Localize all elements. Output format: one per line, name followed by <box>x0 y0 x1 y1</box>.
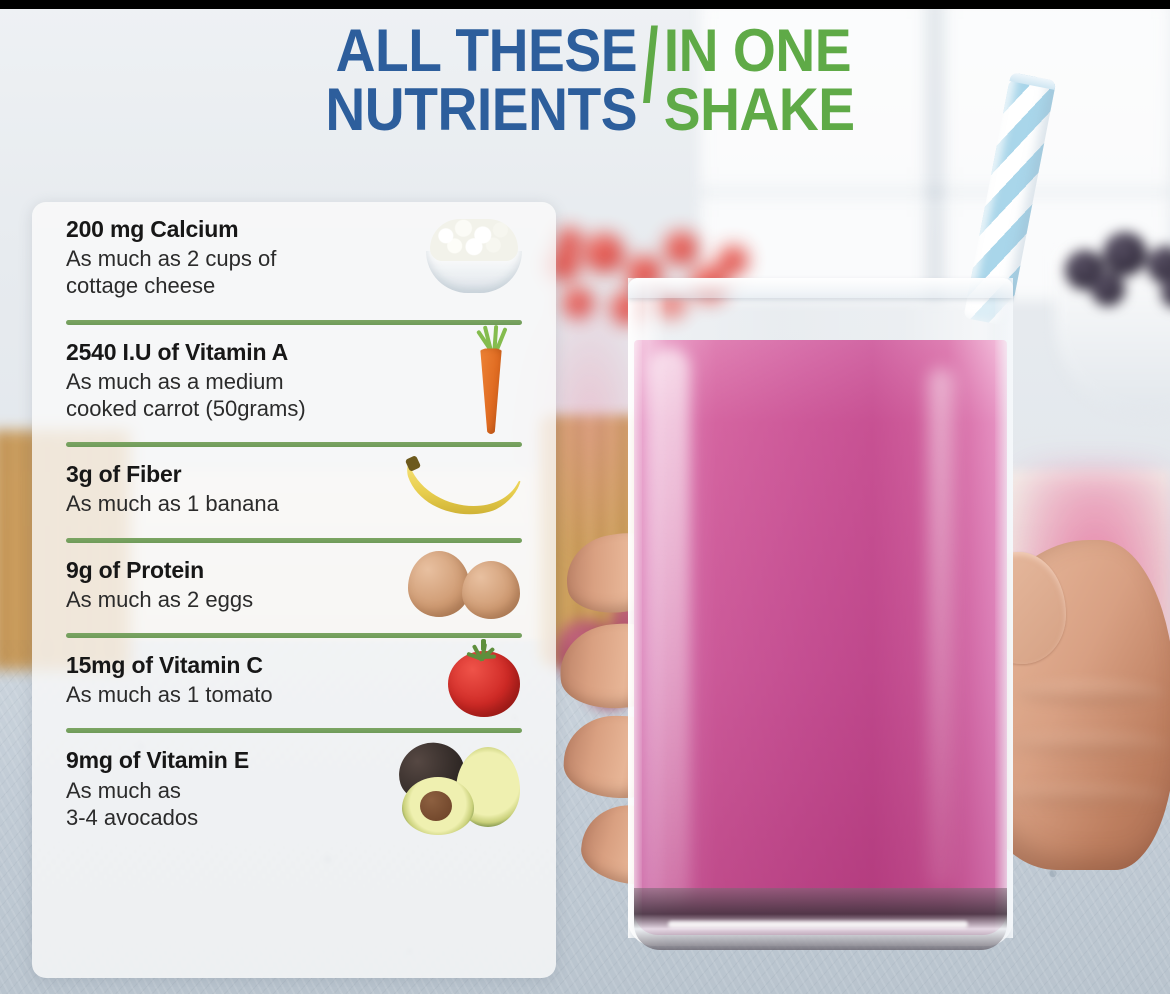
knuckle-crease-3 <box>990 784 1165 806</box>
egg-1 <box>408 551 470 617</box>
avocado-icon <box>394 739 522 835</box>
glass-right-edge <box>995 278 1013 938</box>
glass-base-highlight <box>668 921 968 928</box>
nutrient-amount: 200 mg Calcium <box>66 216 396 243</box>
headline-line-1: ALL THESE <box>326 22 638 81</box>
nutrient-equivalent: As much as 1 tomato <box>66 681 396 708</box>
nutrient-text: 15mg of Vitamin CAs much as 1 tomato <box>66 652 396 708</box>
knuckle-crease-2 <box>1005 732 1170 756</box>
nutrient-amount: 3g of Fiber <box>66 461 396 488</box>
nutrient-row: 2540 I.U of Vitamin AAs much as a medium… <box>32 325 556 433</box>
equivalent-line-1: As much as <box>66 778 181 803</box>
nutrient-equivalent: As much as 1 banana <box>66 490 396 517</box>
nutrient-equivalent: As much as 2 eggs <box>66 586 396 613</box>
avocado-pit <box>420 791 452 821</box>
blueberry-1 <box>1103 232 1147 276</box>
smoothie-highlight-left <box>648 348 690 908</box>
equivalent-line-1: As much as 1 banana <box>66 491 279 516</box>
glass-base <box>634 888 1007 950</box>
equivalent-line-1: As much as a medium <box>66 369 284 394</box>
headline-line-2: NUTRIENTS <box>326 81 638 140</box>
glass-left-edge <box>628 278 642 938</box>
tomato-body <box>448 651 520 717</box>
nutrient-text: 9g of ProteinAs much as 2 eggs <box>66 557 396 613</box>
egg-2 <box>462 561 520 619</box>
equivalent-line-1: As much as 2 eggs <box>66 587 253 612</box>
nutrient-row: 15mg of Vitamin CAs much as 1 tomato <box>32 638 556 718</box>
headline-right: IN ONE SHAKE <box>649 22 855 140</box>
banana-icon <box>406 455 522 521</box>
nutrient-row: 9mg of Vitamin EAs much as3-4 avocados <box>32 733 556 841</box>
nutrient-row: 3g of FiberAs much as 1 banana <box>32 447 556 527</box>
nutrient-icon-wrap <box>460 322 522 434</box>
headline-line-4: SHAKE <box>664 81 855 140</box>
knuckle-crease-1 <box>1015 680 1165 706</box>
nutrient-amount: 15mg of Vitamin C <box>66 652 396 679</box>
tomato-icon <box>446 639 522 717</box>
nutrient-equivalent: As much as 2 cups ofcottage cheese <box>66 245 396 300</box>
equivalent-line-1: As much as 1 tomato <box>66 682 273 707</box>
headline-left: ALL THESE NUTRIENTS <box>326 22 652 140</box>
smoothie-highlight-right <box>928 368 954 888</box>
berry-1 <box>584 233 624 273</box>
nutrient-row: 9g of ProteinAs much as 2 eggs <box>32 543 556 623</box>
nutrient-card: 200 mg CalciumAs much as 2 cups ofcottag… <box>32 202 556 978</box>
nutrient-icon-wrap <box>426 219 522 293</box>
eggs-icon <box>408 547 522 619</box>
headline-line-3: IN ONE <box>664 22 855 81</box>
equivalent-line-2: cottage cheese <box>66 273 215 298</box>
nutrient-amount: 9mg of Vitamin E <box>66 747 396 774</box>
tomato-stem <box>481 639 486 651</box>
berry-9 <box>718 245 748 275</box>
nutrient-amount: 9g of Protein <box>66 557 396 584</box>
carrot-root <box>476 348 506 434</box>
nutrient-icon-wrap <box>408 547 522 619</box>
headline: ALL THESE NUTRIENTS / IN ONE SHAKE <box>0 22 1170 182</box>
nutrient-equivalent: As much as a mediumcooked carrot (50gram… <box>66 368 396 423</box>
nutrient-text: 2540 I.U of Vitamin AAs much as a medium… <box>66 339 396 423</box>
equivalent-line-1: As much as 2 cups of <box>66 246 276 271</box>
top-black-bar <box>0 0 1170 9</box>
carrot-icon <box>460 322 522 434</box>
nutrient-text: 200 mg CalciumAs much as 2 cups ofcottag… <box>66 216 396 300</box>
nutrient-text: 9mg of Vitamin EAs much as3-4 avocados <box>66 747 396 831</box>
cheese-curds <box>430 219 518 261</box>
berry-3 <box>664 231 698 265</box>
glass-rim <box>628 278 1013 298</box>
nutrient-text: 3g of FiberAs much as 1 banana <box>66 461 396 517</box>
nutrient-amount: 2540 I.U of Vitamin A <box>66 339 396 366</box>
blueberries-blur <box>1065 232 1170 302</box>
nutrient-list: 200 mg CalciumAs much as 2 cups ofcottag… <box>32 202 556 841</box>
equivalent-line-2: 3-4 avocados <box>66 805 198 830</box>
blueberry-4 <box>1091 272 1125 306</box>
nutrient-icon-wrap <box>446 639 522 717</box>
nutrient-row: 200 mg CalciumAs much as 2 cups ofcottag… <box>32 202 556 310</box>
equivalent-line-2: cooked carrot (50grams) <box>66 396 306 421</box>
nutrient-equivalent: As much as3-4 avocados <box>66 777 396 832</box>
nutrient-icon-wrap <box>406 455 522 521</box>
nutrient-icon-wrap <box>394 739 522 835</box>
infographic-canvas: ALL THESE NUTRIENTS / IN ONE SHAKE 200 m… <box>0 0 1170 994</box>
banana-body <box>406 461 522 517</box>
smoothie-glass <box>628 278 1013 946</box>
cottage-cheese-bowl-icon <box>426 219 522 293</box>
berry-8 <box>556 227 582 253</box>
